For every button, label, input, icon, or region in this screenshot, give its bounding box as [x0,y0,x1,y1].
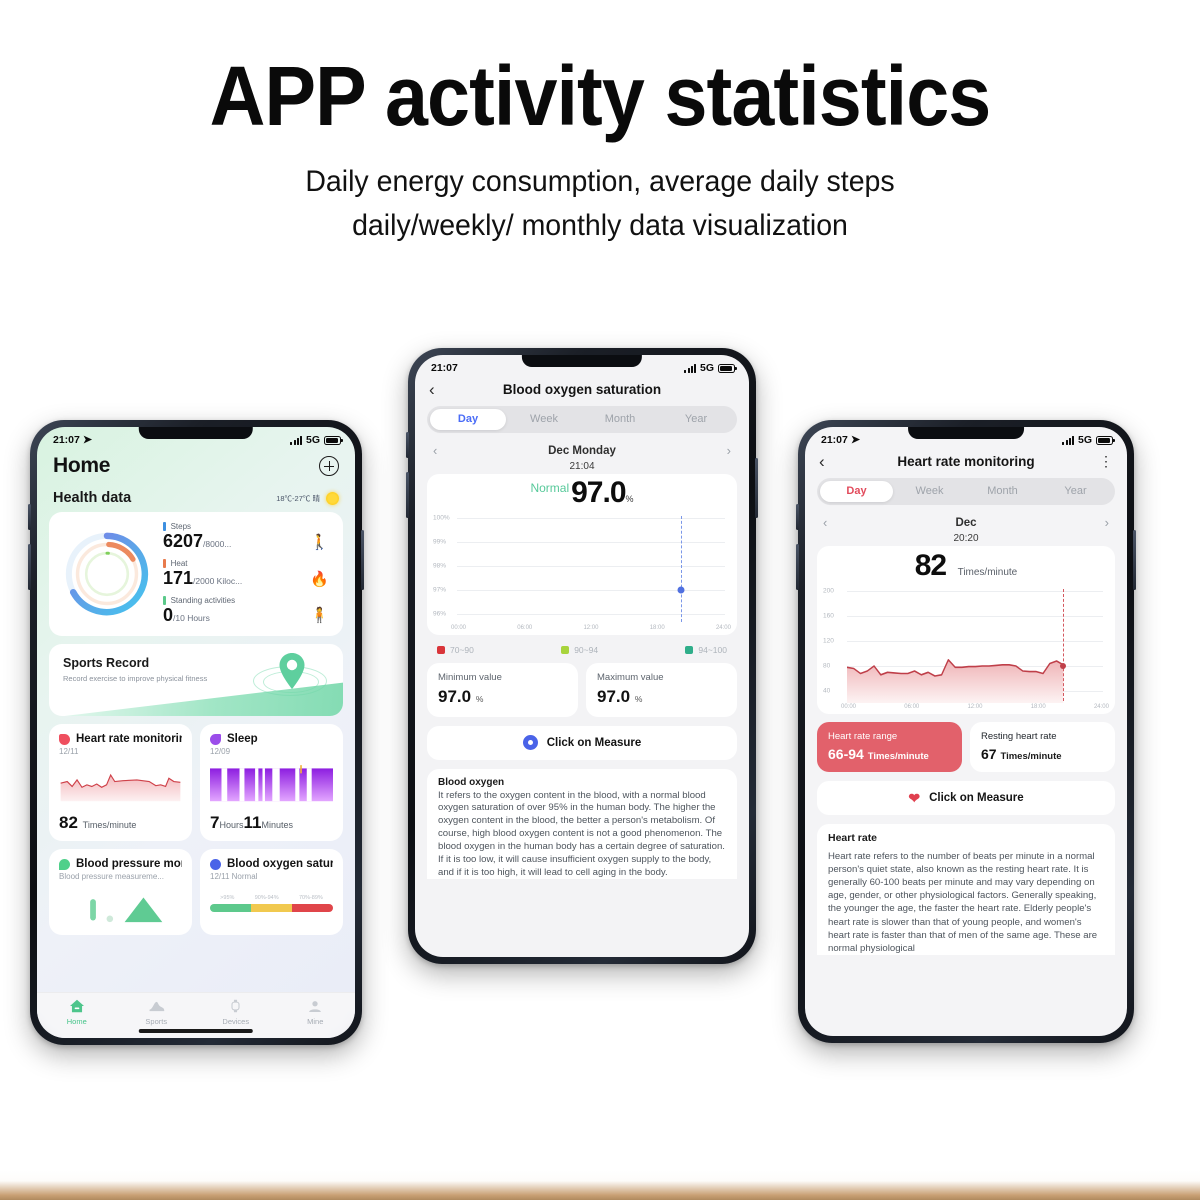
phone-mockup-home: 21:07 ➤ 5G Home Health data 18℃-27℃ 晴 [30,420,362,1045]
metric-label: Steps [171,522,191,531]
back-chevron-icon[interactable]: ‹ [819,453,839,470]
metric-label: Standing activities [171,596,235,605]
card-value: 67 [981,746,997,762]
home-icon [69,999,85,1013]
legend-item-low: 70~90 [437,645,474,655]
metric-steps: Steps 6207/8000... 🚶 [163,522,335,552]
mini-card-row-2: Blood pressure mor Blood pressure measur… [49,849,343,935]
card-value: 97.0 [597,687,630,706]
info-text: It refers to the oxygen content in the b… [438,790,726,880]
x-tick: 18:00 [650,625,665,631]
card-unit: Times/minute [1000,751,1061,762]
legend-label: 94~100 [698,645,727,655]
x-axis-labels: 00:00 06:00 12:00 18:00 24:00 [427,624,737,631]
person-icon [308,1000,322,1013]
sleep-bars-chart [210,762,333,806]
info-text: Heart rate refers to the number of beats… [828,850,1104,956]
activity-rings-chart [55,522,159,626]
metric-value: 6207 [163,531,203,551]
phone-mockup-blood-oxygen: 21:07 5G ‹ Blood oxygen saturation Day W… [408,348,756,964]
measure-button-label: Click on Measure [547,737,642,749]
current-reading: Normal97.0% [427,476,737,512]
signal-bars-icon [684,364,696,373]
mini-card-row-1: Heart rate monitorin 12/11 82 Times/minu… [49,724,343,841]
poster-header: APP activity statistics Daily energy con… [0,52,1200,247]
metric-standing: Standing activities 0/10 Hours 🧍 [163,596,335,626]
card-label: Maximum value [597,672,726,685]
x-tick: 06:00 [904,704,919,710]
y-tick: 200 [823,588,834,595]
x-tick: 06:00 [517,625,532,631]
location-arrow-icon: ➤ [851,435,860,446]
heart-rate-info-card: Heart rate Heart rate refers to the numb… [817,824,1115,956]
standing-person-icon: 🧍 [310,606,329,624]
heart-icon: ❤ [908,791,920,805]
card-unit-2: Minutes [261,820,293,830]
metric-unit: /8000... [203,539,231,549]
nav-label: Devices [222,1017,249,1026]
phone-notch [522,355,642,367]
nav-item-mine[interactable]: Mine [276,1000,356,1032]
network-label: 5G [306,434,320,446]
prev-date-icon[interactable]: ‹ [433,443,437,458]
minimum-value-card: Minimum value 97.0 % [427,663,578,717]
phone-screen-heart-rate: 21:07 ➤ 5G ‹ Heart rate monitoring ⋮ Day… [805,427,1127,1036]
legend-item-mid: 90~94 [561,645,598,655]
y-tick: 160 [823,613,834,620]
resting-heart-rate-card: Resting heart rate 67 Times/minute [970,722,1115,772]
phone-screen-home: 21:07 ➤ 5G Home Health data 18℃-27℃ 晴 [37,427,355,1038]
current-date: Dec [955,517,976,529]
min-max-cards: Minimum value 97.0 % Maximum value 97.0 … [427,663,737,717]
tab-week[interactable]: Week [506,409,582,430]
cursor-line [1063,589,1064,701]
x-tick: 24:00 [716,625,731,631]
network-label: 5G [700,362,714,374]
metric-value: 0 [163,605,173,625]
card-title: Sleep [227,733,258,745]
app-navbar: ‹ Blood oxygen saturation [415,376,749,406]
circle-icon [210,859,221,870]
oxygen-band-bar [210,904,333,912]
card-sleep[interactable]: Sleep 12/09 7Hours11Minutes [200,724,343,841]
reading-value: 82 [915,549,946,582]
phone-side-button[interactable] [1133,530,1136,590]
x-tick: 00:00 [841,704,856,710]
sun-icon [326,492,339,505]
card-date: 12/09 [210,747,333,756]
nav-label: Sports [145,1017,167,1026]
tab-week[interactable]: Week [893,481,966,502]
weather-widget: 18℃-27℃ 晴 [276,492,339,505]
battery-icon [1096,436,1113,445]
card-label: Heart rate range [828,731,951,744]
card-unit: Times/minute [83,820,137,830]
tab-month[interactable]: Month [966,481,1039,502]
kebab-menu-icon[interactable]: ⋮ [1093,457,1113,467]
poster-root: APP activity statistics Daily energy con… [0,0,1200,1200]
legend-label: 70~90 [450,645,474,655]
nav-item-home[interactable]: Home [37,999,117,1032]
sports-record-title: Sports Record [63,656,329,670]
card-title: Heart rate monitorin [76,733,182,745]
heart-icon [59,734,70,745]
card-subtitle: Blood pressure measureme... [59,872,182,881]
date-navigator: ‹ Dec › [805,513,1127,530]
plus-circle-icon[interactable] [319,456,339,476]
status-time: 21:07 [431,362,458,374]
y-tick: 120 [823,638,834,645]
card-unit: % [476,694,484,704]
blood-oxygen-line-chart: 100% 99% 98% 97% 96% [431,512,729,624]
watch-icon [229,999,242,1013]
card-unit: % [635,694,643,704]
status-time: 21:07 [821,434,848,446]
y-tick: 40 [823,688,830,695]
nav-label: Home [67,1017,87,1026]
weather-text: 18℃-27℃ 晴 [276,493,320,504]
band-label-low: 70%-89% [299,895,323,901]
x-axis-labels: 00:00 06:00 12:00 18:00 24:00 [817,703,1115,710]
nav-item-devices[interactable]: Devices [196,999,276,1032]
card-title: Blood oxygen satur [227,858,333,870]
card-value-2: 11 [243,813,261,832]
legend-item-high: 94~100 [685,645,727,655]
card-date: 12/11 [59,747,182,756]
app-navbar: ‹ Heart rate monitoring ⋮ [805,448,1127,478]
flame-icon: 🔥 [310,570,329,588]
network-label: 5G [1078,434,1092,446]
phone-mockup-heart-rate: 21:07 ➤ 5G ‹ Heart rate monitoring ⋮ Day… [798,420,1134,1043]
tab-day[interactable]: Day [820,481,893,502]
droplet-icon [59,859,70,870]
metric-unit: /10 Hours [173,613,210,623]
phone-side-button[interactable] [755,458,758,518]
back-chevron-icon[interactable]: ‹ [429,381,449,398]
health-metrics-list: Steps 6207/8000... 🚶 Heat 171/2000 Kiloc… [159,522,335,625]
card-label: Minimum value [438,672,567,685]
card-blood-oxygen[interactable]: Blood oxygen satur 12/11 Normal >95% 90%… [200,849,343,935]
phone-side-button[interactable] [361,530,364,590]
sports-record-subtitle: Record exercise to improve physical fitn… [63,674,329,683]
health-data-label: Health data [53,490,131,506]
walking-icon: 🚶 [310,533,329,551]
page-subtitle: Daily energy consumption, average daily … [239,160,961,247]
card-value: 97.0 [438,687,471,706]
status-time: 21:07 [53,434,80,446]
chart-legend: 70~90 90~94 94~100 [415,643,749,663]
metric-heat: Heat 171/2000 Kiloc... 🔥 [163,559,335,589]
signal-bars-icon [290,436,302,445]
metric-unit: /2000 Kiloc... [193,576,242,586]
phone-notch [908,427,1024,439]
metric-value: 171 [163,568,193,588]
page-title: APP activity statistics [48,52,1152,140]
y-tick: 98% [433,563,446,570]
home-header: Home [37,448,355,482]
measure-button-label: Click on Measure [929,792,1024,804]
phone-notch [139,427,253,439]
x-tick: 12:00 [583,625,598,631]
location-arrow-icon: ➤ [83,435,92,446]
heart-rate-area-chart: 200 160 120 80 40 [821,585,1107,703]
card-heart-rate[interactable]: Heart rate monitorin 12/11 82 Times/minu… [49,724,192,841]
page-title: Heart rate monitoring [839,454,1093,469]
y-tick: 97% [433,587,446,594]
battery-icon [324,436,341,445]
battery-icon [718,364,735,373]
blood-pressure-graphic [59,889,182,929]
shoe-icon [148,1000,165,1013]
prev-date-icon[interactable]: ‹ [823,515,827,530]
card-unit: Times/minute [868,751,929,762]
home-title: Home [53,454,110,478]
maximum-value-card: Maximum value 97.0 % [586,663,737,717]
heart-rate-chart-card: 82 Times/minute 200 160 120 80 40 [817,546,1115,714]
y-tick: 99% [433,539,446,546]
y-tick: 80 [823,663,830,670]
page-title: Blood oxygen saturation [449,382,715,397]
metric-label: Heat [171,559,188,568]
health-summary-card[interactable]: Steps 6207/8000... 🚶 Heat 171/2000 Kiloc… [49,512,343,636]
card-status: 12/11 Normal [210,872,333,881]
info-title: Heart rate [828,832,1104,844]
reading-time: 20:20 [805,530,1127,546]
health-data-header: Health data 18℃-27℃ 晴 [37,482,355,512]
legend-label: 90~94 [574,645,598,655]
measure-button[interactable]: Click on Measure [427,726,737,760]
tab-year[interactable]: Year [1039,481,1112,502]
period-tabs: Day Week Month Year [817,478,1115,505]
measure-circle-icon [523,735,538,750]
date-navigator: ‹ Dec Monday › [415,441,749,458]
data-point-marker [678,587,685,594]
measure-button[interactable]: ❤ Click on Measure [817,781,1115,815]
cursor-line [681,516,682,622]
moon-icon [210,734,221,745]
info-title: Blood oxygen [438,777,726,788]
x-tick: 24:00 [1094,704,1109,710]
data-point-marker [1060,663,1066,669]
reading-unit: Times/minute [958,567,1018,578]
x-tick: 00:00 [451,625,466,631]
band-label-mid: 90%-94% [255,895,279,901]
home-indicator [139,1029,253,1033]
tab-year[interactable]: Year [658,409,734,430]
tab-month[interactable]: Month [582,409,658,430]
heart-rate-series [847,585,1103,703]
heart-rate-summary-cards: Heart rate range 66-94 Times/minute Rest… [817,722,1115,772]
tab-day[interactable]: Day [430,409,506,430]
card-blood-pressure[interactable]: Blood pressure mor Blood pressure measur… [49,849,192,935]
reading-unit: % [626,494,634,504]
blood-oxygen-chart-card: Normal97.0% 100% 99% 98% 97% 96% 00:00 0… [427,474,737,635]
next-date-icon[interactable]: › [727,443,731,458]
nav-item-sports[interactable]: Sports [117,1000,197,1032]
phone-screen-blood-oxygen: 21:07 5G ‹ Blood oxygen saturation Day W… [415,355,749,957]
heart-rate-sparkline [59,762,182,806]
card-label: Resting heart rate [981,731,1104,744]
next-date-icon[interactable]: › [1105,515,1109,530]
current-date: Dec Monday [548,445,616,457]
status-word: Normal [530,481,569,495]
heart-rate-range-card: Heart rate range 66-94 Times/minute [817,722,962,772]
x-tick: 18:00 [1031,704,1046,710]
reading-time: 21:04 [415,458,749,474]
card-value: 82 [59,813,78,832]
y-tick: 96% [433,611,446,618]
band-label-high: >95% [220,895,234,901]
signal-bars-icon [1062,436,1074,445]
period-tabs: Day Week Month Year [427,406,737,433]
sports-record-card[interactable]: Sports Record Record exercise to improve… [49,644,343,716]
card-title: Blood pressure mor [76,858,182,870]
card-unit: Hours [219,820,243,830]
x-tick: 12:00 [967,704,982,710]
y-tick: 100% [433,515,450,522]
reading-value: 97.0 [571,476,625,509]
blood-oxygen-info-card: Blood oxygen It refers to the oxygen con… [427,769,737,880]
nav-label: Mine [307,1017,323,1026]
card-value: 66-94 [828,746,864,762]
